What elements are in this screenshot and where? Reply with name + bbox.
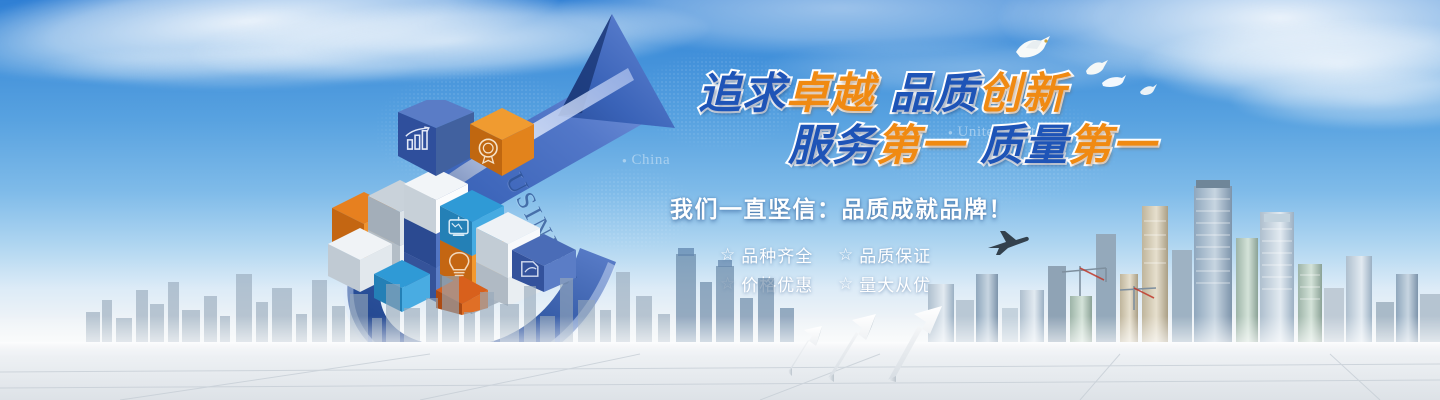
feature-item: ☆ 量大从优: [838, 269, 956, 298]
banner-copy: 追求卓越品质创新 服务第一质量第一 我们一直坚信：品质成就品牌！ ☆ 品种齐全 …: [668, 72, 1228, 298]
growth-arrows-graphic: [782, 306, 982, 382]
star-icon: ☆: [720, 275, 736, 292]
headline-segment-8: 第一: [1068, 124, 1156, 169]
feature-label: 量大从优: [859, 271, 931, 296]
plaza-ground: [0, 342, 1440, 400]
star-icon: ☆: [838, 275, 854, 292]
headline-segment-3: 品质: [890, 72, 978, 117]
business-banner: Europe United_States China: [0, 0, 1440, 400]
cloud-icon: [1230, 70, 1440, 130]
feature-item: ☆ 品质保证: [838, 240, 956, 269]
feature-item: ☆ 品种齐全: [720, 240, 838, 269]
feature-label: 品质保证: [859, 242, 931, 267]
headline-segment-6: 第一: [876, 124, 964, 169]
feature-label: 品种齐全: [741, 242, 813, 267]
headline-segment-2: 卓越: [786, 72, 874, 117]
star-icon: ☆: [838, 246, 854, 263]
feature-label: 价格优惠: [741, 271, 813, 296]
headline-line-2: 服务第一质量第一: [788, 124, 1228, 169]
star-icon: ☆: [720, 246, 736, 263]
headline-segment-1: 追求: [698, 72, 786, 117]
feature-item: ☆ 价格优惠: [720, 269, 838, 298]
headline-segment-7: 质量: [980, 124, 1068, 169]
banner-subtitle: 我们一直坚信：品质成就品牌！: [670, 190, 1228, 224]
headline-line-1: 追求卓越品质创新: [698, 72, 1228, 117]
rubiks-cube-graphic: [318, 100, 578, 315]
headline-segment-5: 服务: [788, 124, 876, 169]
dove-icon: [1012, 32, 1054, 62]
feature-list: ☆ 品种齐全 ☆ 品质保证 ☆ 价格优惠 ☆ 量大从优: [720, 240, 1228, 298]
headline-segment-4: 创新: [978, 72, 1066, 117]
